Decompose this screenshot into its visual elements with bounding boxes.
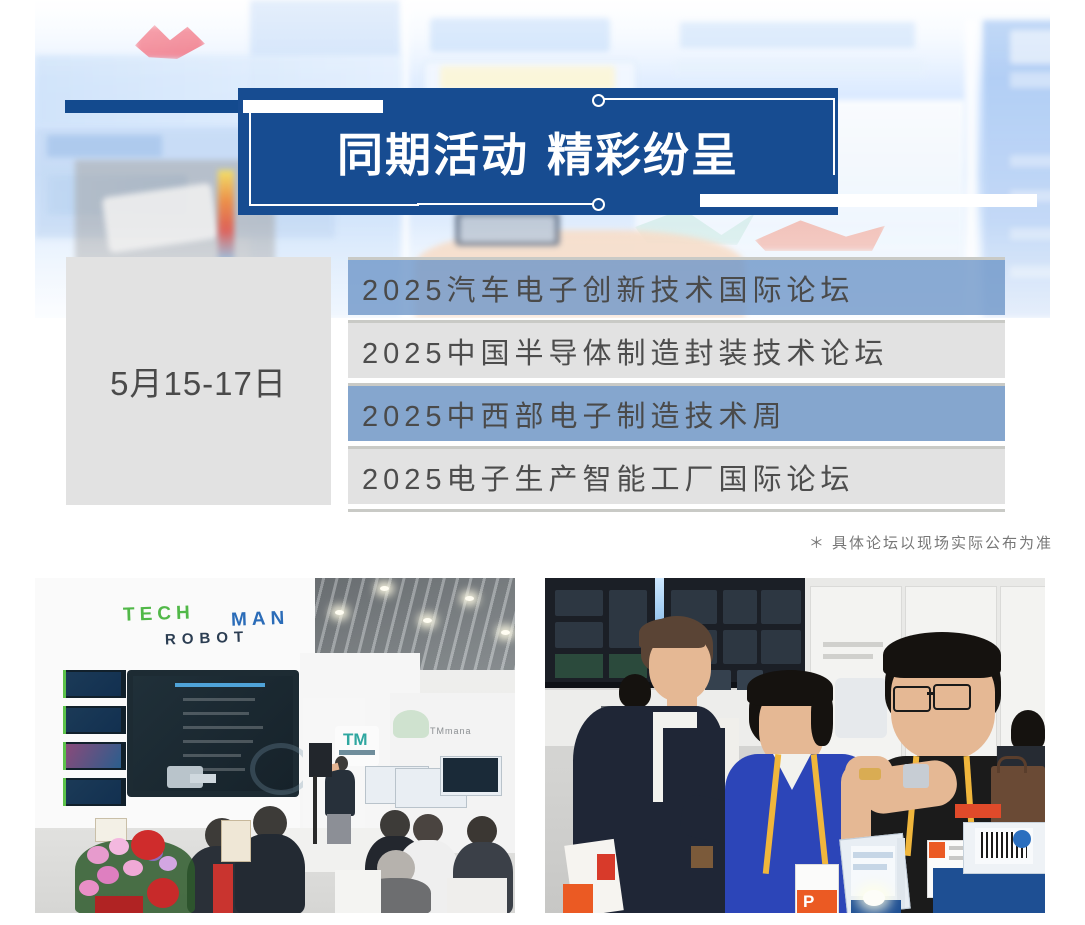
- list-item[interactable]: 2025中西部电子制造技术周: [348, 386, 1005, 441]
- footnote: ＊ 具体论坛以现场实际公布为准: [809, 532, 1053, 553]
- date-block: 5月15-17日: [66, 257, 331, 505]
- photo-strip: TECH MAN ROBOT: [0, 578, 1085, 918]
- list-item[interactable]: 2025中国半导体制造封装技术论坛: [348, 323, 1005, 378]
- banner-left-accent-bar: [65, 100, 238, 113]
- list-separator: [348, 509, 1005, 512]
- list-item[interactable]: 2025汽车电子创新技术国际论坛: [348, 260, 1005, 315]
- exhibition-visitors-photo: P: [545, 578, 1045, 913]
- booth-brand-sub: ROBOT: [165, 629, 250, 649]
- techman-robot-booth-photo: TECH MAN ROBOT: [35, 578, 515, 913]
- poster-page: 同期活动 精彩纷呈 5月15-17日 2025汽车电子创新技术国际论坛 2025…: [0, 0, 1085, 925]
- booth-tm-logo: TM: [343, 730, 368, 750]
- banner-title: 同期活动 精彩纷呈: [238, 88, 838, 215]
- booth-side-text: TMmana: [430, 726, 472, 736]
- list-item[interactable]: 2025电子生产智能工厂国际论坛: [348, 449, 1005, 504]
- forum-list: 2025汽车电子创新技术国际论坛 2025中国半导体制造封装技术论坛 2025中…: [348, 257, 1005, 512]
